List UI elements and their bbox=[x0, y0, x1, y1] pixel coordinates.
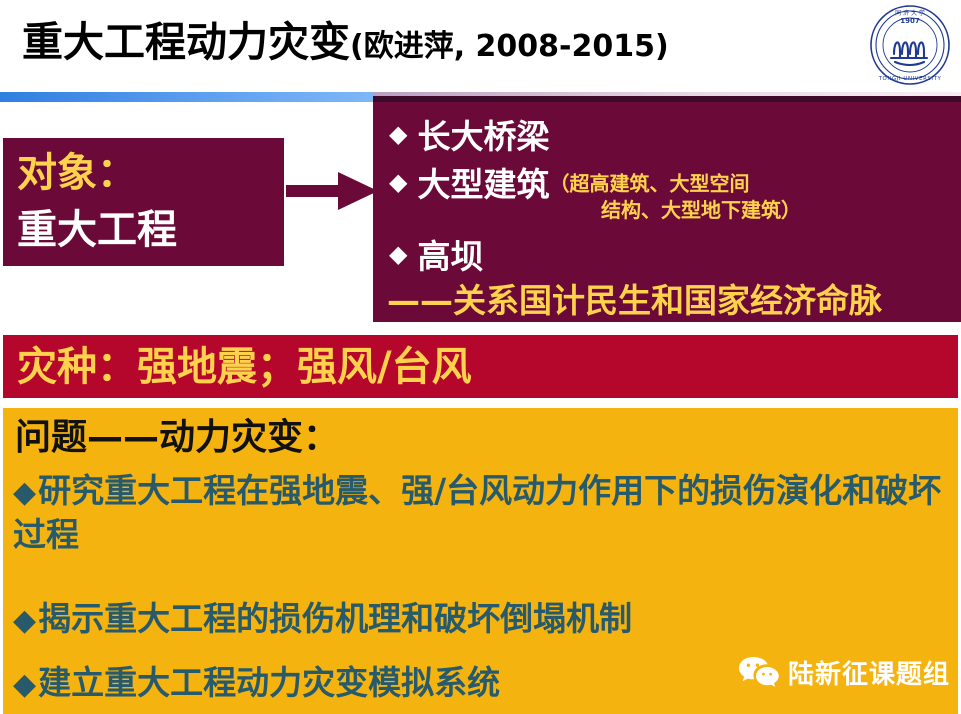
target-item-dam: ◆高坝 bbox=[389, 230, 483, 278]
svg-text:同 济 大 学: 同 济 大 学 bbox=[895, 9, 925, 17]
problems-heading: 问题——动力灾变： bbox=[15, 414, 339, 462]
diamond-bullet-icon: ◆ bbox=[13, 667, 36, 702]
target-note-building-line1: （超高建筑、大型空间 bbox=[549, 172, 749, 196]
svg-text:TONGJI UNIVERSITY: TONGJI UNIVERSITY bbox=[878, 76, 942, 82]
target-note-building-line2: 结构、大型地下建筑） bbox=[601, 194, 801, 223]
targets-tagline: ——关系国计民生和国家经济命脉 bbox=[387, 274, 882, 322]
problem-item-2: ◆揭示重大工程的损伤机理和破坏倒塌机制 bbox=[13, 598, 943, 642]
object-box-value: 重大工程 bbox=[17, 202, 284, 258]
problem-item-1: ◆研究重大工程在强地震、强/台风动力作用下的损伤演化和破坏过程 bbox=[13, 470, 943, 556]
problem-text-2: 揭示重大工程的损伤机理和破坏倒塌机制 bbox=[38, 599, 632, 638]
diamond-bullet-icon: ◆ bbox=[389, 240, 407, 268]
problem-text-3: 建立重大工程动力灾变模拟系统 bbox=[38, 663, 500, 702]
diamond-bullet-icon: ◆ bbox=[13, 475, 36, 510]
problem-text-1: 研究重大工程在强地震、强/台风动力作用下的损伤演化和破坏过程 bbox=[13, 471, 941, 554]
hazard-band: 灾种：强地震；强风/台风 bbox=[3, 335, 958, 398]
diamond-bullet-icon: ◆ bbox=[389, 168, 407, 196]
target-label-building: 大型建筑 bbox=[417, 165, 549, 204]
page-title-sub: (欧进萍, 2008-2015) bbox=[350, 29, 669, 64]
object-box-label: 对象： bbox=[17, 144, 284, 202]
object-box: 对象： 重大工程 bbox=[3, 138, 284, 266]
page-title: 重大工程动力灾变(欧进萍, 2008-2015) bbox=[22, 18, 669, 71]
tongji-university-seal-icon: 1907 同 济 大 学 TONGJI UNIVERSITY bbox=[869, 4, 951, 86]
svg-text:1907: 1907 bbox=[900, 17, 920, 25]
divider-blue-bar bbox=[0, 92, 373, 102]
right-arrow-icon bbox=[286, 168, 378, 214]
target-label-bridge: 长大桥梁 bbox=[417, 117, 549, 156]
diamond-bullet-icon: ◆ bbox=[389, 120, 407, 148]
wechat-watermark: 陆新征课题组 bbox=[738, 652, 950, 692]
wechat-label: 陆新征课题组 bbox=[788, 654, 950, 691]
diamond-bullet-icon: ◆ bbox=[13, 603, 36, 638]
slide-root: 重大工程动力灾变(欧进萍, 2008-2015) 1907 同 济 大 学 TO… bbox=[0, 0, 961, 714]
wechat-icon bbox=[738, 655, 780, 689]
hazard-text: 灾种：强地震；强风/台风 bbox=[17, 340, 472, 394]
target-label-dam: 高坝 bbox=[417, 237, 483, 276]
target-item-bridge: ◆长大桥梁 bbox=[389, 110, 549, 158]
page-title-main: 重大工程动力灾变 bbox=[22, 18, 350, 66]
targets-panel: ◆长大桥梁 ◆大型建筑（超高建筑、大型空间 结构、大型地下建筑） ◆高坝 ——关… bbox=[373, 102, 961, 322]
title-area: 重大工程动力灾变(欧进萍, 2008-2015) bbox=[0, 0, 961, 92]
